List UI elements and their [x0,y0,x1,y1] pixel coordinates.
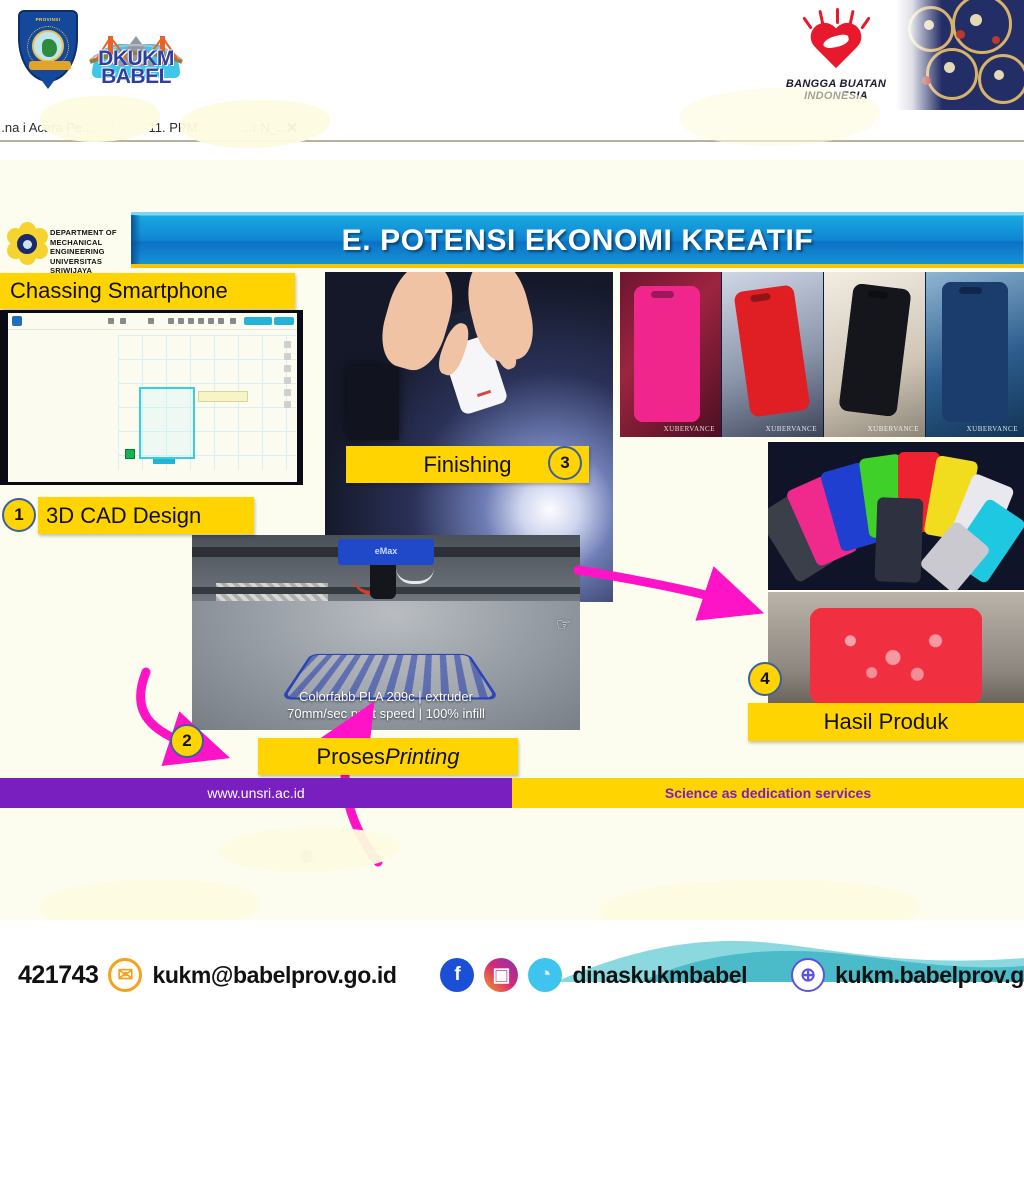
step-label-proses-printing: Proses Printing [258,738,518,775]
email-address[interactable]: kukm@babelprov.go.id [152,962,396,989]
heart-ray-icon [836,8,839,24]
batik-ornament [896,0,1024,110]
slide-title-bar: E. POTENSI EKONOMI KREATIF [131,212,1024,267]
section-label-chassing-smartphone: Chassing Smartphone [0,273,295,309]
slide-pagination-dot[interactable] [300,850,313,863]
hand-cursor-icon: ☞ [556,615,571,635]
printer-extruder-head: eMax [338,539,434,565]
social-handle: dinaskukmbabel [572,962,747,989]
province-globe-icon [32,30,64,62]
instagram-icon[interactable]: ▣ [484,958,518,992]
phone-case-gallery-photo: XUBERVANCE XUBERVANCE XUBERVANCE XUBERVA… [620,272,1024,437]
province-logo: PROVINSI [18,10,78,92]
dkukm-line2: BABEL [101,65,171,88]
case-watermark: XUBERVANCE [766,425,817,433]
printer-head-label: eMax [338,546,434,556]
case-watermark: XUBERVANCE [664,425,715,433]
bangga-buatan-indonesia-logo: BANGGA BUATAN INDONESIA [780,6,892,106]
tab-n[interactable]: ...r N_... [188,114,288,140]
browser-tab-strip: ...na i Acara Pe... 11. PPM ...r N_... ✕ [0,110,1024,142]
step-badge-2: 2 [170,724,204,758]
printer-overlay-text: Colorfabb PLA 209c | extruder 70mm/sec p… [192,688,580,722]
top-brand-bar: PROVINSI DKUKM BABEL [0,0,1024,110]
presentation-slide: DEPARTMENT OF MECHANICAL ENGINEERING UNI… [0,160,1024,920]
case-watermark: XUBERVANCE [967,425,1018,433]
bangga-label: BANGGA BUATAN INDONESIA [780,78,892,102]
heart-icon [808,24,864,82]
cad-screenshot-photo [0,310,303,485]
dept-logo-text: DEPARTMENT OF MECHANICAL ENGINEERING UNI… [50,228,132,276]
case-watermark: XUBERVANCE [868,425,919,433]
contact-footer-bar: 421743 ✉ kukm@babelprov.go.id f ▣ ◔ dina… [0,920,1024,1024]
province-shield-icon: PROVINSI [18,10,78,82]
step-label-3d-cad-design: 3D CAD Design [38,497,254,534]
province-shield-top-text: PROVINSI [20,17,76,22]
slide-footer-url: www.unsri.ac.id [0,778,512,808]
bangga-line2: INDONESIA [804,90,868,102]
phone-case-blue: XUBERVANCE [926,272,1024,437]
close-icon[interactable]: ✕ [286,119,299,137]
tab-acara[interactable]: ...na i Acara Pe... [0,114,112,140]
phone-case-red: XUBERVANCE [722,272,823,437]
step-label-hasil-produk: Hasil Produk [748,703,1024,741]
phone-case-pink: XUBERVANCE [620,272,721,437]
tab-strip-divider [0,140,1024,142]
proses-text: Proses [316,744,384,770]
step-badge-3: 3 [548,446,582,480]
facebook-icon[interactable]: f [440,958,474,992]
screenshot-root: PROVINSI DKUKM BABEL [0,0,1024,1024]
phone-case-black: XUBERVANCE [824,272,925,437]
bangga-line1: BANGGA BUATAN [786,78,886,90]
unsri-flower-icon [6,222,48,266]
slide-title: E. POTENSI EKONOMI KREATIF [131,215,1024,267]
dept-line-1: DEPARTMENT OF [50,228,117,237]
printer-overlay-line1: Colorfabb PLA 209c | extruder [299,689,473,704]
mail-icon: ✉ [108,958,142,992]
step-badge-4: 4 [748,662,782,696]
step-badge-1: 1 [2,498,36,532]
contact-row: 421743 ✉ kukm@babelprov.go.id f ▣ ◔ dina… [18,958,1024,992]
twitter-icon[interactable]: ◔ [528,958,562,992]
phone-number: 421743 [18,961,98,990]
slide-footer-tagline: Science as dedication services [512,778,1024,808]
website-url[interactable]: kukm.babelprov.go.id [835,962,1024,989]
3d-printer-photo: eMax Colorfabb PLA 209c | extruder 70mm/… [192,535,580,730]
globe-icon: ⊕ [791,958,825,992]
dept-line-2: MECHANICAL ENGINEERING [50,238,105,257]
title-underline [131,264,1024,268]
dkukm-babel-logo: DKUKM BABEL [86,16,186,90]
case-collection-photo [768,442,1024,590]
unsri-department-logo: DEPARTMENT OF MECHANICAL ENGINEERING UNI… [4,220,132,268]
printer-overlay-line2: 70mm/sec print speed | 100% infill [287,706,485,721]
printing-text: Printing [385,744,460,770]
province-ribbon [29,61,71,70]
dkukm-wordmark: DKUKM BABEL [86,50,186,86]
